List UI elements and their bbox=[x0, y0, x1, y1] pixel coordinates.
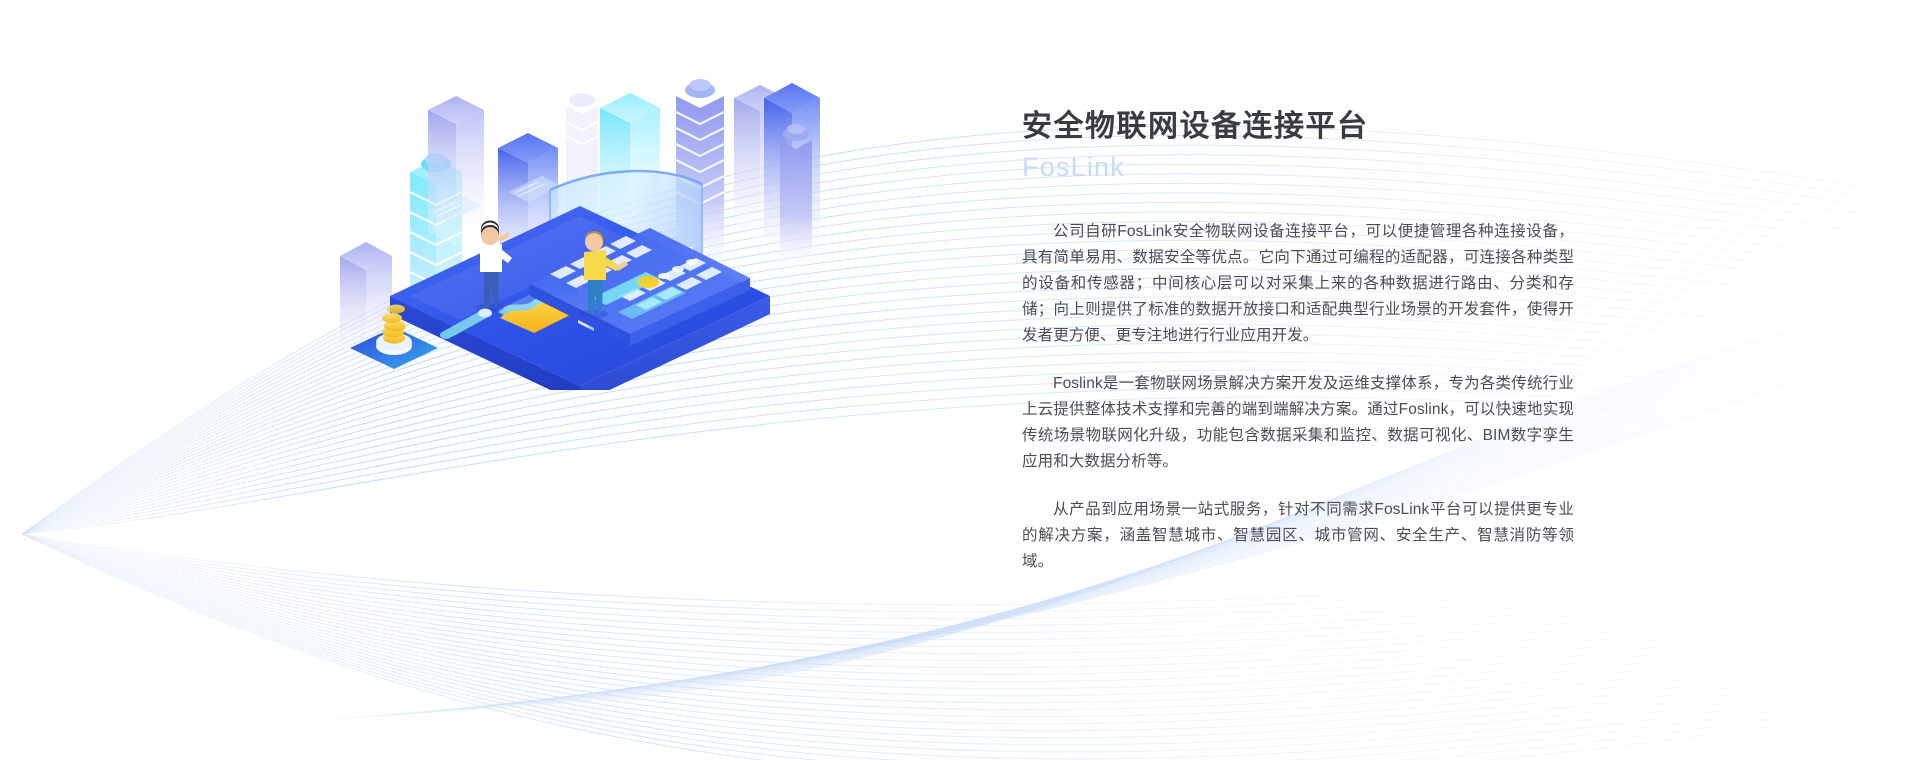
background-wave-decoration bbox=[0, 0, 1920, 760]
body-paragraphs: 公司自研FosLink安全物联网设备连接平台，可以便捷管理各种连接设备，具有简单… bbox=[1022, 219, 1574, 575]
isometric-smart-city-illustration bbox=[330, 60, 830, 390]
paragraph-1: 公司自研FosLink安全物联网设备连接平台，可以便捷管理各种连接设备，具有简单… bbox=[1022, 219, 1574, 349]
page-subtitle: FosLink bbox=[1022, 150, 1574, 185]
hero-page: 安全物联网设备连接平台 FosLink 公司自研FosLink安全物联网设备连接… bbox=[0, 0, 1920, 760]
paragraph-3: 从产品到应用场景一站式服务，针对不同需求FosLink平台可以提供更专业的解决方… bbox=[1022, 497, 1574, 575]
hero-text-column: 安全物联网设备连接平台 FosLink 公司自研FosLink安全物联网设备连接… bbox=[1022, 108, 1574, 575]
hover-coin bbox=[637, 276, 659, 288]
building-purple-left bbox=[428, 96, 484, 246]
paragraph-2: Foslink是一套物联网场景解决方案开发及运维支撑体系，专为各类传统行业上云提… bbox=[1022, 371, 1574, 475]
page-title: 安全物联网设备连接平台 bbox=[1022, 108, 1574, 146]
